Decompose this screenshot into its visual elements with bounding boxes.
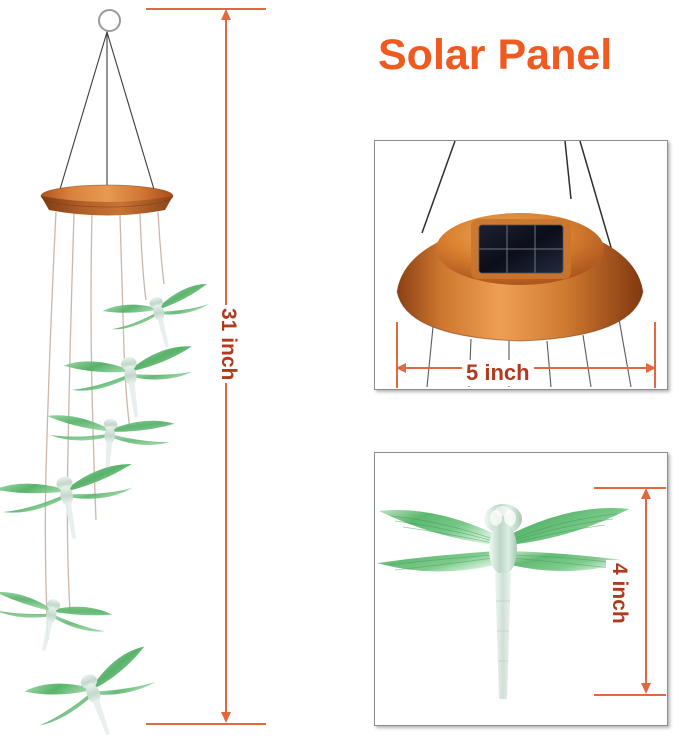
dragonfly-charm xyxy=(0,463,143,551)
dragonfly-charm xyxy=(0,587,113,663)
dragonfly-charm xyxy=(102,283,220,361)
dragonfly-charm xyxy=(63,345,200,426)
extension-line-left xyxy=(396,322,398,388)
extension-line-right xyxy=(654,322,656,388)
arrowhead-right-icon xyxy=(646,363,656,373)
dimension-shaft xyxy=(645,493,647,689)
extension-line-top xyxy=(594,487,666,489)
hanging-ring-icon xyxy=(98,9,121,32)
arrowhead-down-icon xyxy=(641,683,651,694)
page-title: Solar Panel xyxy=(378,34,668,77)
solar-panel-illustration xyxy=(375,141,665,387)
arrowhead-down-icon xyxy=(221,712,231,723)
dragonfly-body-group xyxy=(377,504,629,699)
arrowhead-left-icon xyxy=(396,363,406,373)
dimension-label-5-inch: 5 inch xyxy=(462,360,534,386)
extension-line-bottom xyxy=(146,723,266,725)
photovoltaic-cell xyxy=(471,219,571,279)
extension-line-bottom xyxy=(594,694,666,696)
arrowhead-up-icon xyxy=(641,488,651,499)
arrowhead-up-icon xyxy=(221,9,231,20)
extension-line-top xyxy=(146,8,266,10)
dimension-label-4-inch: 4 inch xyxy=(606,560,632,627)
solar-cap xyxy=(41,185,173,216)
wind-chime-illustration xyxy=(0,0,240,738)
dimension-label-31-inch: 31 inch xyxy=(215,305,241,383)
product-image-canvas: Solar Panel xyxy=(0,0,679,738)
solar-panel-closeup-panel xyxy=(374,140,668,390)
